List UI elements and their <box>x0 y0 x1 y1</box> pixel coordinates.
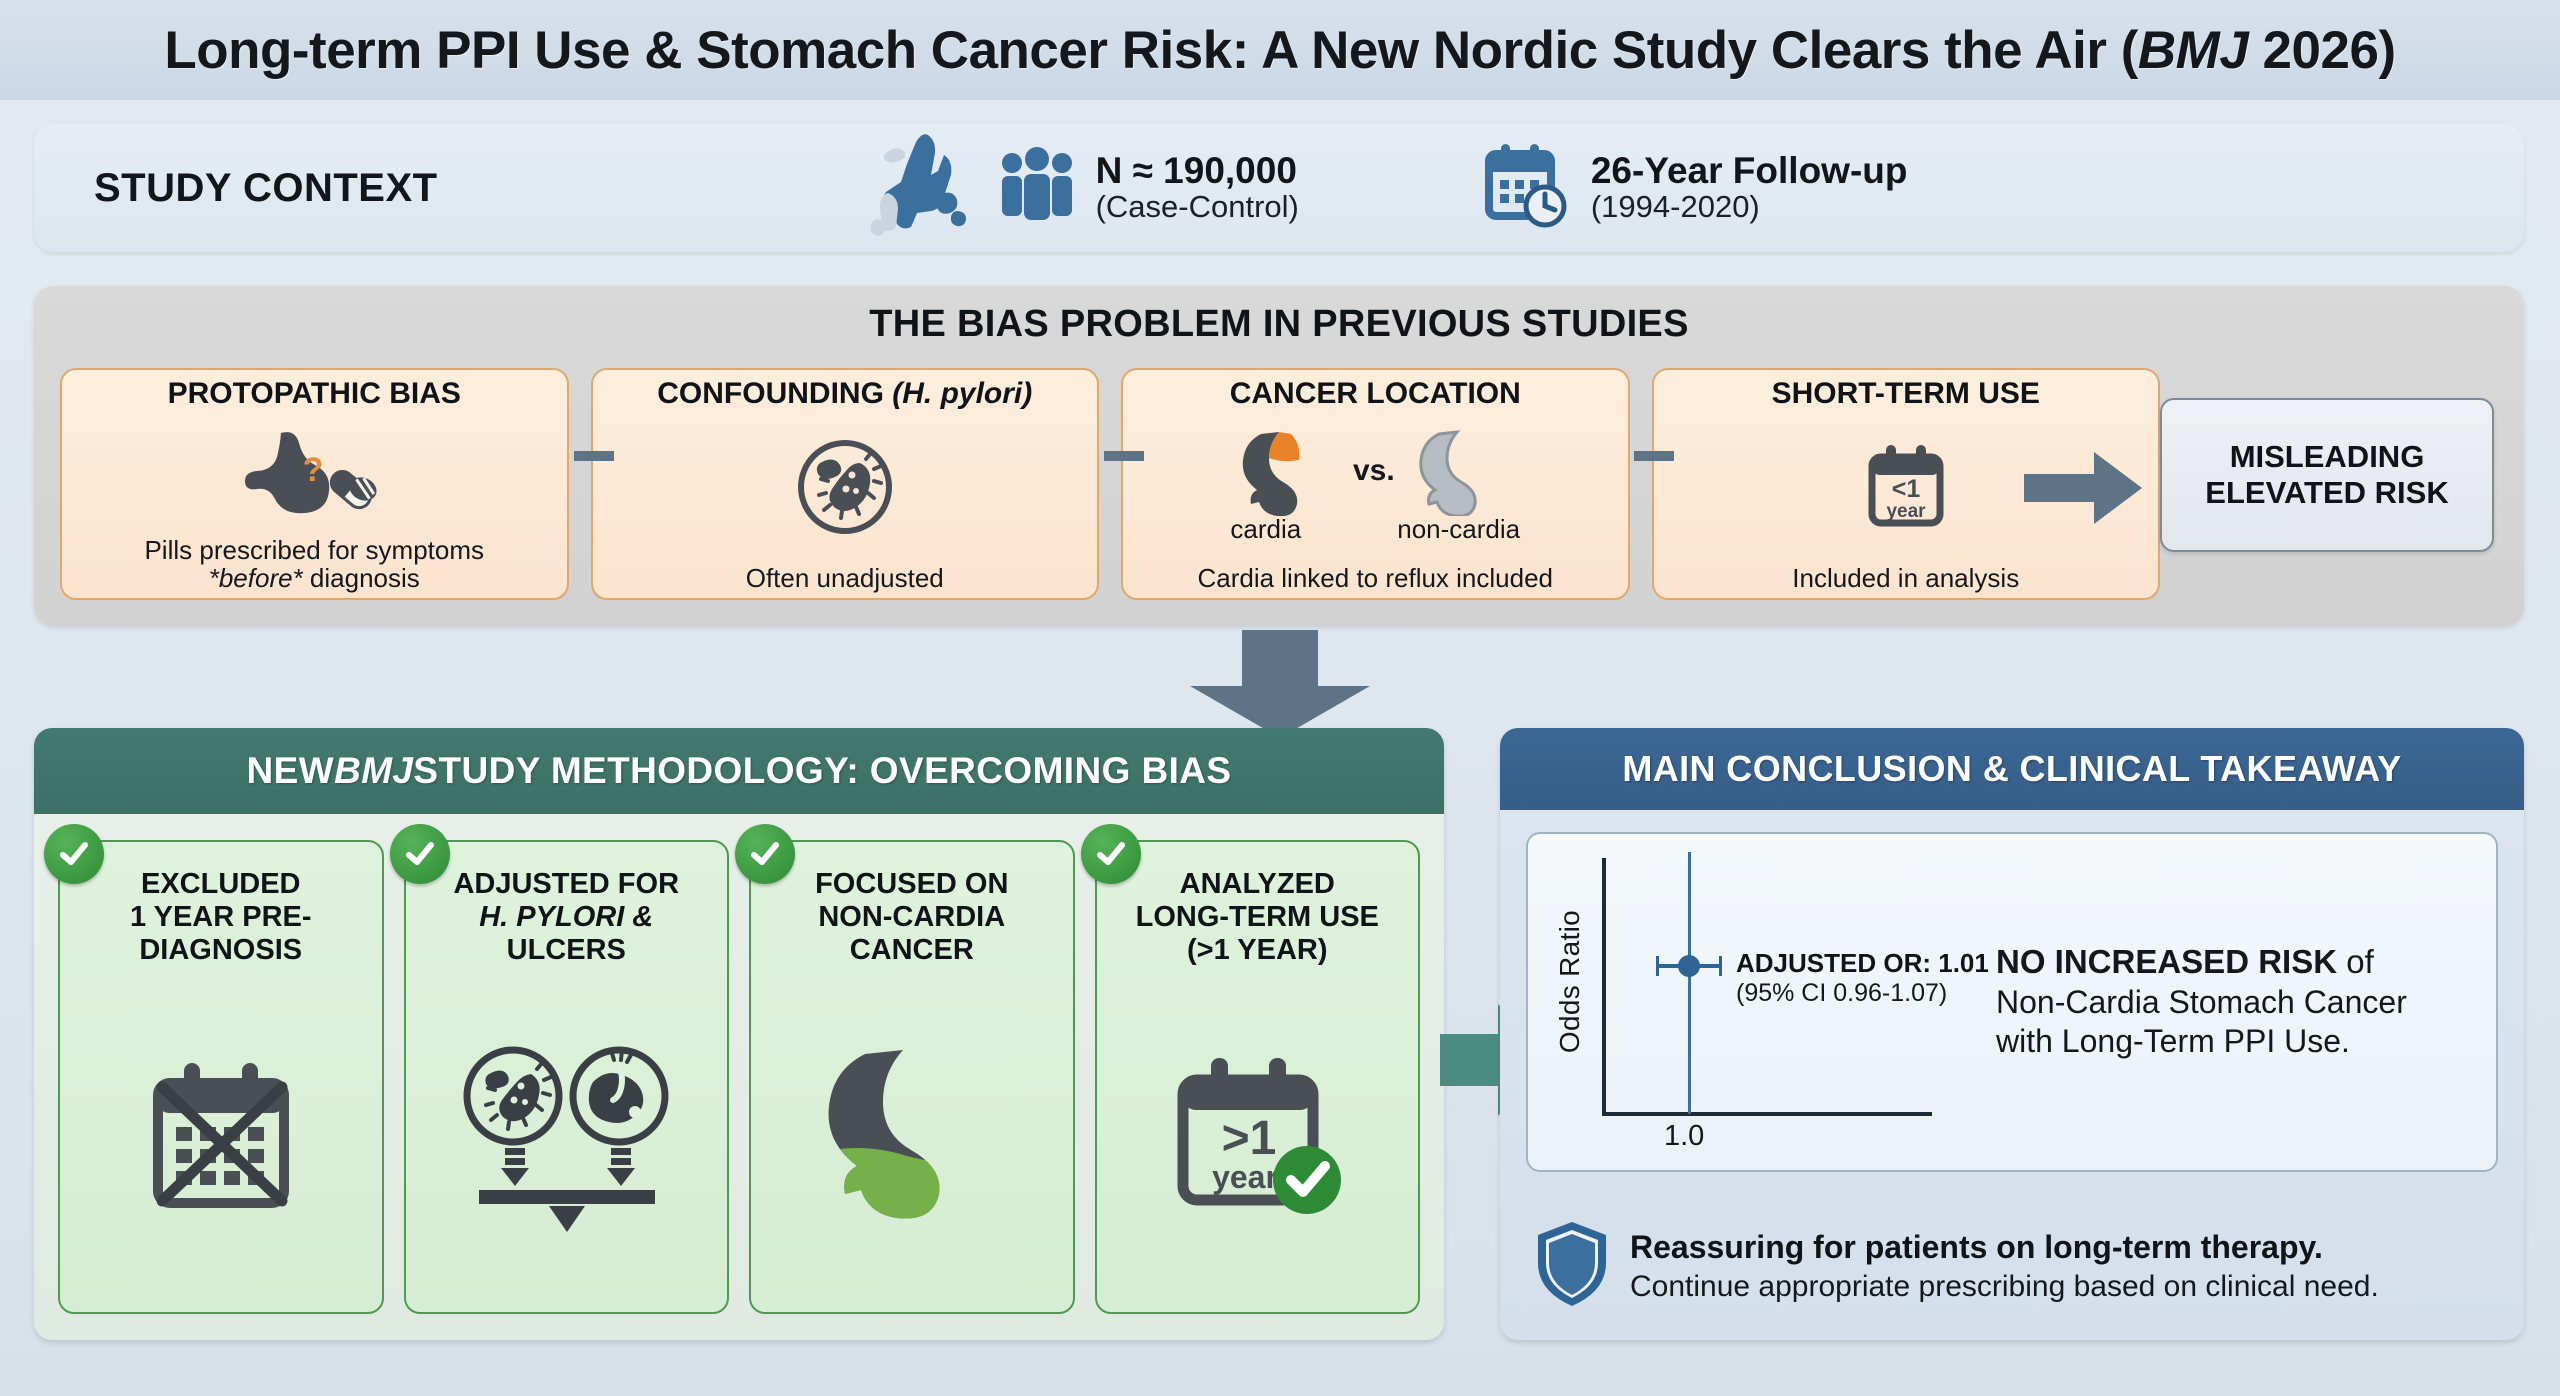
bias-card-title: PROTOPATHIC BIAS <box>168 378 461 410</box>
bias-card-list: PROTOPATHIC BIAS ? <box>60 368 2160 600</box>
followup-text: 26-Year Follow-up (1994-2020) <box>1591 152 1908 223</box>
bias-card-confounding: CONFOUNDING (H. pylori) Often unadjusted <box>591 368 1100 600</box>
calendar-lt1-line2: year <box>1886 501 1926 522</box>
shield-icon <box>1534 1219 1610 1314</box>
method-card-title-l1: ADJUSTED FOR <box>453 868 679 900</box>
takeaway-line3: with Long-Term PPI Use. <box>1996 1022 2407 1062</box>
bias-card-title: CONFOUNDING (H. pylori) <box>657 378 1032 410</box>
calendar-gt1-line2: year <box>1212 1159 1278 1195</box>
check-circle-icon <box>44 824 104 884</box>
connector-3 <box>1634 451 1674 461</box>
method-card-focused-non-cardia: FOCUSED ON NON-CARDIA CANCER <box>749 840 1075 1314</box>
method-header-pre: NEW <box>247 750 335 792</box>
method-card-title-l1: EXCLUDED <box>141 868 301 900</box>
check-circle-icon <box>390 824 450 884</box>
takeaway-line1: NO INCREASED RISK of <box>1996 942 2407 983</box>
connector-2 <box>1104 451 1144 461</box>
forest-plot-x-axis <box>1602 1112 1932 1116</box>
method-header-journal: BMJ <box>334 750 413 792</box>
takeaway-line2: Non-Cardia Stomach Cancer <box>1996 983 2407 1023</box>
bias-card-cancer-location: CANCER LOCATION vs. cardia <box>1121 368 1630 600</box>
page-title-year: 2026) <box>2248 21 2395 80</box>
reassurance-headline: Reassuring for patients on long-term the… <box>1630 1228 2379 1268</box>
svg-text:?: ? <box>303 451 324 489</box>
method-card-title-l3: (>1 YEAR) <box>1187 934 1327 966</box>
method-card-title: ADJUSTED FOR H. PYLORI & ULCERS <box>447 868 685 966</box>
method-card-title: FOCUSED ON NON-CARDIA CANCER <box>809 868 1014 966</box>
reassurance-subline: Continue appropriate prescribing based o… <box>1630 1268 2379 1305</box>
conclusion-panel-header: MAIN CONCLUSION & CLINICAL TAKEAWAY <box>1500 728 2524 810</box>
svg-text:vs.: vs. <box>1353 454 1395 487</box>
bias-card-subtext: Often unadjusted <box>746 564 944 592</box>
bias-card-subtext: Cardia linked to reflux included <box>1197 564 1553 592</box>
method-header-post: STUDY METHODOLOGY: OVERCOMING BIAS <box>413 750 1231 792</box>
calendar-clock-icon <box>1479 138 1575 239</box>
reassurance-text: Reassuring for patients on long-term the… <box>1630 1228 2379 1305</box>
method-card-adjusted-hpylori-ulcers: ADJUSTED FOR H. PYLORI & ULCERS <box>404 840 730 1314</box>
sample-size-value: N ≈ 190,000 <box>1096 152 1299 191</box>
methodology-panel-header: NEW BMJ STUDY METHODOLOGY: OVERCOMING BI… <box>34 728 1444 814</box>
forest-plot-x-tick: 1.0 <box>1664 1120 1704 1153</box>
conclusion-panel: MAIN CONCLUSION & CLINICAL TAKEAWAY Odds… <box>1500 728 2524 1340</box>
takeaway-bold: NO INCREASED RISK <box>1996 943 2337 980</box>
check-circle-icon <box>1081 824 1141 884</box>
people-group-icon <box>994 143 1080 234</box>
calendar-gt1-line1: >1 <box>1222 1112 1277 1165</box>
forest-plot-y-axis <box>1602 858 1606 1116</box>
forest-plot-point-estimate <box>1678 955 1700 977</box>
bacteria-ulcer-balance-icon <box>406 966 728 1312</box>
forest-plot-null-line <box>1688 852 1691 1114</box>
calendar-crossed-out-icon <box>60 966 382 1312</box>
legend-non-cardia: non-cardia <box>1397 514 1520 545</box>
bias-outcome-arrow-icon <box>2024 446 2144 535</box>
h-pylori-bacteria-icon <box>790 410 900 564</box>
followup-value: 26-Year Follow-up <box>1591 152 1908 191</box>
takeaway-rest: of <box>2337 943 2374 980</box>
legend-cardia: cardia <box>1230 514 1301 545</box>
method-card-excluded-pre-diagnosis: EXCLUDED 1 YEAR PRE- DIAGNOSIS <box>58 840 384 1314</box>
methodology-card-list: EXCLUDED 1 YEAR PRE- DIAGNOSIS <box>34 814 1444 1340</box>
method-card-title-l2: NON-CARDIA <box>818 901 1005 933</box>
bias-card-subtext-tail: diagnosis <box>303 563 420 593</box>
bias-card-title: SHORT-TERM USE <box>1772 378 2040 410</box>
method-card-title-l2: LONG-TERM USE <box>1136 901 1379 933</box>
method-card-title-l1: FOCUSED ON <box>815 868 1008 900</box>
bias-card-title: CANCER LOCATION <box>1230 378 1521 410</box>
connector-1 <box>574 451 614 461</box>
page-title: Long-term PPI Use & Stomach Cancer Risk:… <box>164 20 2395 81</box>
bias-panel-heading: THE BIAS PROBLEM IN PREVIOUS STUDIES <box>34 286 2524 346</box>
sample-size-text: N ≈ 190,000 (Case-Control) <box>1096 152 1299 223</box>
forest-plot-or-value: ADJUSTED OR: 1.01 <box>1736 948 1989 979</box>
stomach-question-pills-icon: ? <box>229 410 399 536</box>
infographic-page: Long-term PPI Use & Stomach Cancer Risk:… <box>0 0 2560 1396</box>
check-circle-icon <box>735 824 795 884</box>
forest-plot-ci-value: (95% CI 0.96-1.07) <box>1736 979 1989 1009</box>
method-card-title: EXCLUDED 1 YEAR PRE- DIAGNOSIS <box>124 868 318 966</box>
method-card-long-term-use: ANALYZED LONG-TERM USE (>1 YEAR) >1 year <box>1095 840 1421 1314</box>
sample-design-value: (Case-Control) <box>1096 191 1299 224</box>
forest-plot-ylabel: Odds Ratio <box>1554 910 1586 1053</box>
page-title-bar: Long-term PPI Use & Stomach Cancer Risk:… <box>0 0 2560 100</box>
method-card-title-l1: ANALYZED <box>1180 868 1335 900</box>
cardia-vs-noncardia-stomach-icon: vs. cardia non-cardia <box>1225 410 1525 564</box>
method-card-title-italic: H. PYLORI & <box>479 901 653 933</box>
method-card-title-l3: DIAGNOSIS <box>139 934 302 966</box>
bias-card-subtext-italic: *before* <box>209 563 303 593</box>
conclusion-result-card: Odds Ratio ADJUSTED OR: 1.01 (95% CI 0.9… <box>1526 832 2498 1172</box>
misleading-line1: MISLEADING <box>2230 439 2425 474</box>
misleading-line2: ELEVATED RISK <box>2205 475 2448 510</box>
calendar-greater-than-one-year-icon: >1 year <box>1097 966 1419 1312</box>
calendar-lt1-line1: <1 <box>1891 475 1920 503</box>
followup-years: (1994-2020) <box>1591 191 1908 224</box>
conclusion-takeaway-text: NO INCREASED RISK of Non-Cardia Stomach … <box>1996 942 2407 1062</box>
method-card-title: ANALYZED LONG-TERM USE (>1 YEAR) <box>1130 868 1385 966</box>
forest-plot-ci-cap-high <box>1719 956 1722 976</box>
forest-plot-estimate-label: ADJUSTED OR: 1.01 (95% CI 0.96-1.07) <box>1736 948 1989 1008</box>
method-card-title-l3: CANCER <box>850 934 974 966</box>
bias-card-subtext-line1: Pills prescribed for symptoms <box>144 535 484 565</box>
bias-problem-panel: THE BIAS PROBLEM IN PREVIOUS STUDIES PRO… <box>34 286 2524 626</box>
bias-card-subtext: Included in analysis <box>1792 564 2019 592</box>
calendar-less-than-one-year-icon: <1 year <box>1858 410 1954 564</box>
reassurance-block: Reassuring for patients on long-term the… <box>1534 1219 2494 1314</box>
followup-item: 26-Year Follow-up (1994-2020) <box>1479 138 1908 239</box>
misleading-elevated-risk-box: MISLEADING ELEVATED RISK <box>2160 398 2494 552</box>
study-context-band: STUDY CONTEXT N <box>34 124 2524 252</box>
method-card-title-l3: ULCERS <box>507 934 626 966</box>
sample-size-item: N ≈ 190,000 (Case-Control) <box>858 131 1299 246</box>
study-context-label: STUDY CONTEXT <box>94 166 438 211</box>
methodology-panel: NEW BMJ STUDY METHODOLOGY: OVERCOMING BI… <box>34 728 1444 1340</box>
bias-card-title-italic: (H. pylori) <box>892 377 1032 410</box>
forest-plot-chart: Odds Ratio ADJUSTED OR: 1.01 (95% CI 0.9… <box>1552 852 1982 1152</box>
bias-card-protopathic: PROTOPATHIC BIAS ? <box>60 368 569 600</box>
forest-plot-ci-cap-low <box>1656 956 1659 976</box>
bias-card-subtext: Pills prescribed for symptoms *before* d… <box>144 536 484 592</box>
nordic-map-icon <box>858 131 978 246</box>
method-card-title-l2: 1 YEAR PRE- <box>130 901 312 933</box>
page-title-main: Long-term PPI Use & Stomach Cancer Risk:… <box>164 21 2138 80</box>
page-title-journal: BMJ <box>2138 21 2248 80</box>
bias-card-title-text: CONFOUNDING <box>657 377 892 410</box>
non-cardia-stomach-icon <box>751 966 1073 1312</box>
